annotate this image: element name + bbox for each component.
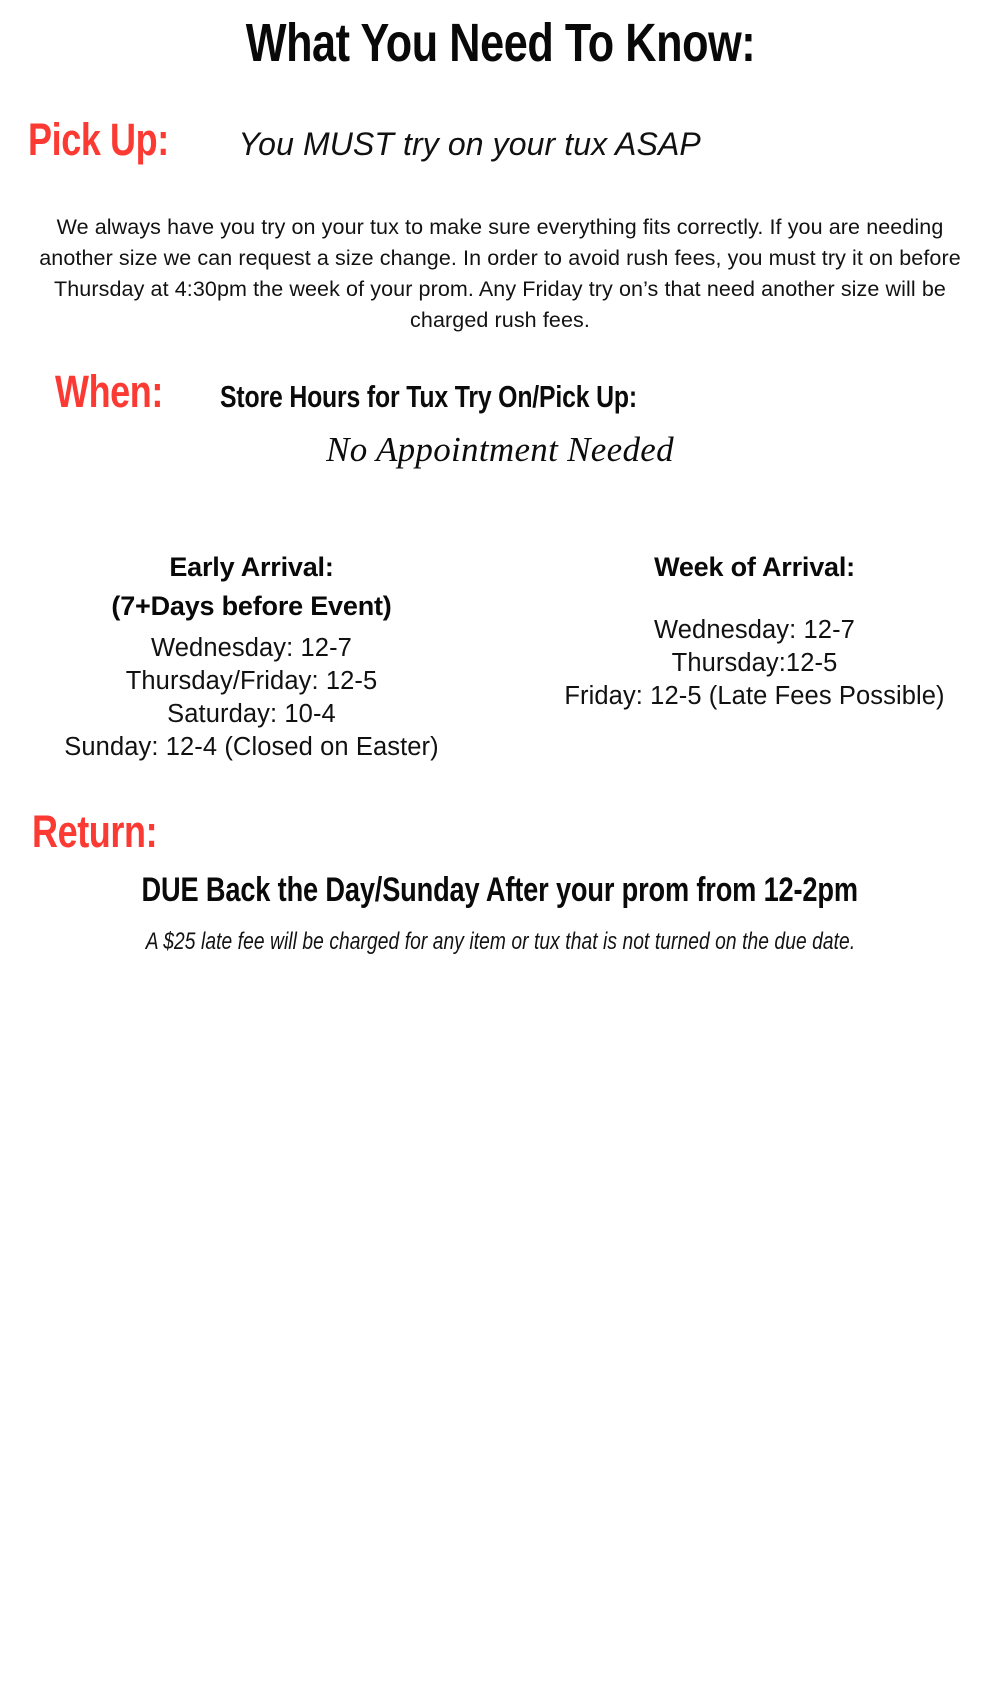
- hours-item: Wednesday: 12-7: [6, 632, 497, 665]
- when-label: When:: [55, 366, 190, 418]
- hours-item: Saturday: 10-4: [6, 698, 497, 731]
- hours-heading-line1: Early Arrival:: [6, 548, 497, 587]
- no-appointment-note: No Appointment Needed: [0, 430, 1000, 470]
- when-subtitle: Store Hours for Tux Try On/Pick Up:: [220, 379, 741, 415]
- pickup-label: Pick Up:: [28, 114, 204, 166]
- return-late-fee-note: A $25 late fee will be charged for any i…: [0, 928, 1000, 956]
- hours-item: Thursday/Friday: 12-5: [6, 665, 497, 698]
- hours-list-early-arrival: Wednesday: 12-7 Thursday/Friday: 12-5 Sa…: [6, 632, 497, 764]
- hours-item: Thursday:12-5: [509, 647, 1000, 680]
- when-subtitle-text: Store Hours for Tux Try On/Pick Up:: [220, 379, 637, 415]
- hours-column-week-of-arrival: Week of Arrival: Wednesday: 12-7 Thursda…: [497, 548, 1000, 713]
- hours-list-week-of-arrival: Wednesday: 12-7 Thursday:12-5 Friday: 12…: [509, 614, 1000, 713]
- pickup-subtitle: You MUST try on your tux ASAP: [239, 126, 701, 163]
- return-due-text: DUE Back the Day/Sunday After your prom …: [142, 871, 858, 910]
- hours-heading-early-arrival: Early Arrival: (7+Days before Event): [6, 548, 497, 626]
- hours-column-early-arrival: Early Arrival: (7+Days before Event) Wed…: [0, 548, 497, 764]
- page-title: What You Need To Know:: [0, 14, 1000, 73]
- return-label-text: Return:: [32, 806, 157, 858]
- store-hours-columns: Early Arrival: (7+Days before Event) Wed…: [0, 548, 1000, 764]
- hours-heading-line2: (7+Days before Event): [6, 587, 497, 626]
- hours-item: Sunday: 12-4 (Closed on Easter): [6, 731, 497, 764]
- flyer-page: What You Need To Know: Pick Up: You MUST…: [0, 0, 1000, 1687]
- pickup-paragraph: We always have you try on your tux to ma…: [20, 212, 980, 336]
- page-title-text: What You Need To Know:: [245, 14, 755, 73]
- hours-item: Wednesday: 12-7: [509, 614, 1000, 647]
- return-due-line: DUE Back the Day/Sunday After your prom …: [0, 871, 1000, 910]
- when-label-text: When:: [55, 366, 163, 418]
- section-return-heading: Return:: [32, 806, 188, 858]
- return-label: Return:: [32, 806, 188, 858]
- hours-heading-line1: Week of Arrival:: [509, 548, 1000, 587]
- return-late-fee-text: A $25 late fee will be charged for any i…: [145, 928, 855, 956]
- pickup-label-text: Pick Up:: [28, 114, 169, 166]
- section-when-heading: When: Store Hours for Tux Try On/Pick Up…: [55, 366, 742, 418]
- hours-item: Friday: 12-5 (Late Fees Possible): [509, 680, 1000, 713]
- section-pickup-heading: Pick Up: You MUST try on your tux ASAP: [28, 114, 701, 166]
- hours-heading-week-of-arrival: Week of Arrival:: [509, 548, 1000, 587]
